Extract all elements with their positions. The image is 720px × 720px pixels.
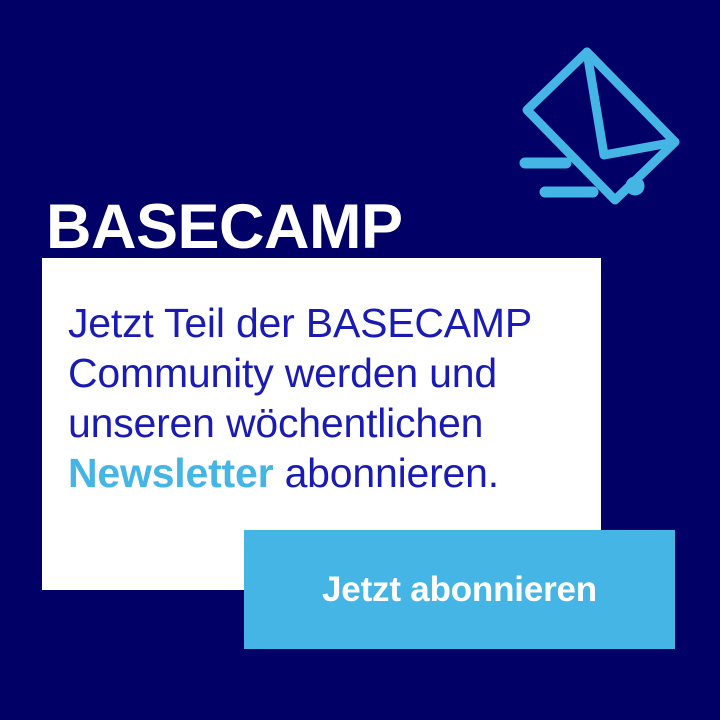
card-line-4-rest: abonnieren. [273,450,499,496]
newsletter-banner: BASECAMP up2date Jetzt Teil der BASECAMP… [0,0,720,720]
envelope-icon [498,30,698,210]
dot-icon [626,177,645,196]
newsletter-highlight: Newsletter [68,450,273,496]
headline-line-1: BASECAMP [46,192,516,262]
card-line-2: Community werden und [68,348,588,398]
card-line-4: Newsletter abonnieren. [68,448,588,498]
card-line-1: Jetzt Teil der BASECAMP [68,298,588,348]
card-line-3: unseren wöchentlichen [68,398,588,448]
subscribe-button-label: Jetzt abonnieren [322,570,597,610]
card-message: Jetzt Teil der BASECAMP Community werden… [68,298,588,498]
subscribe-button[interactable]: Jetzt abonnieren [244,530,675,649]
